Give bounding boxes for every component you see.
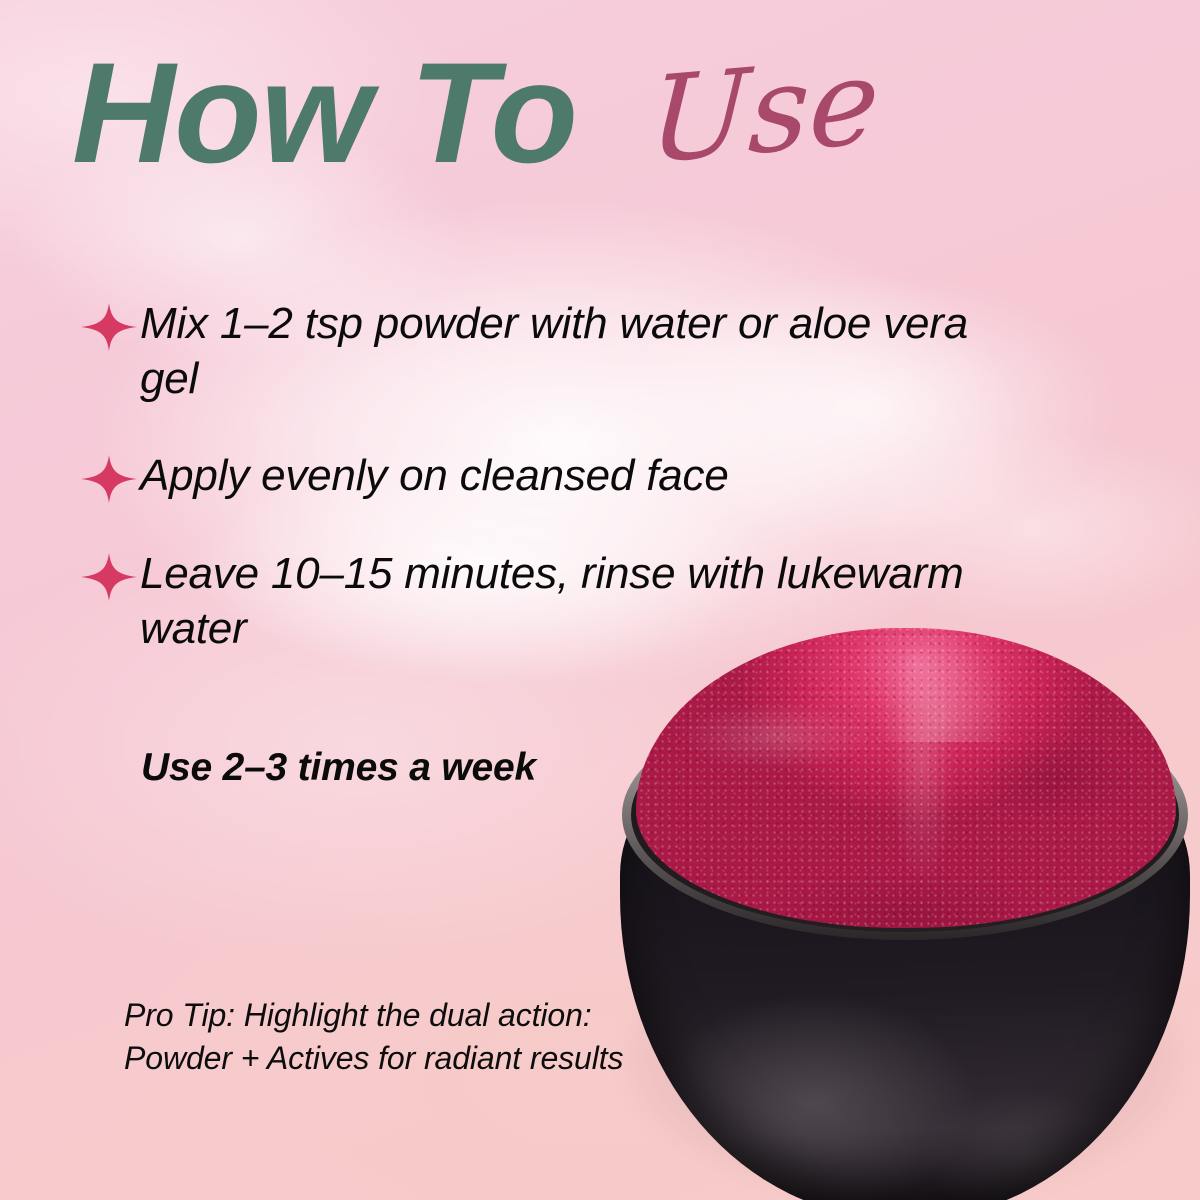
page-title: How To Use bbox=[72, 42, 1072, 232]
list-item-label: Mix 1–2 tsp powder with water or aloe ve… bbox=[140, 296, 970, 406]
usage-frequency-note: Use 2–3 times a week bbox=[141, 746, 536, 790]
list-item-label: Apply evenly on cleansed face bbox=[140, 448, 729, 503]
how-to-use-poster: How To Use Mix 1–2 tsp powder with water… bbox=[0, 0, 1200, 1200]
list-item: Mix 1–2 tsp powder with water or aloe ve… bbox=[80, 296, 970, 406]
pink-powder-heap bbox=[636, 628, 1176, 928]
product-image bbox=[600, 612, 1200, 1200]
page-title-script-accent: Use bbox=[647, 41, 882, 180]
sparkle-icon bbox=[80, 552, 138, 602]
sparkle-icon bbox=[80, 454, 138, 504]
pro-tip-text: Pro Tip: Highlight the dual action: Powd… bbox=[124, 994, 624, 1080]
powder-peak-highlight bbox=[874, 628, 1014, 742]
page-title-main: How To bbox=[72, 42, 577, 185]
list-item: Apply evenly on cleansed face bbox=[80, 448, 970, 504]
sparkle-icon bbox=[80, 302, 138, 352]
